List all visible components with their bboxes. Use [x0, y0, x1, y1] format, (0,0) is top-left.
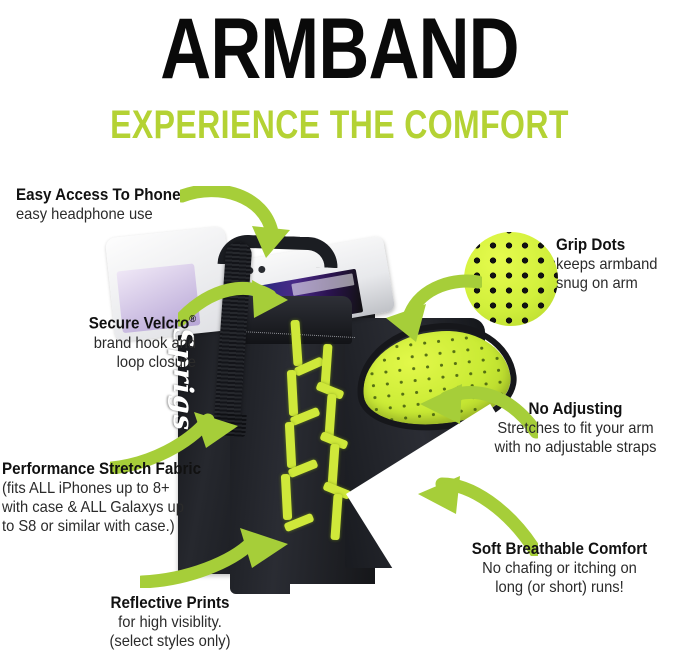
callout-body-line: No chafing or itching on — [450, 559, 670, 578]
callout-body-line: for high visiblity. — [69, 613, 271, 632]
callout-grip-dots: Grip Dots keeps armband snug on arm — [556, 236, 666, 293]
callout-body-line: loop closure — [16, 353, 196, 372]
callout-heading: Soft Breathable Comfort — [450, 540, 670, 559]
callout-body-line: to S8 or similar with case.) — [2, 517, 201, 536]
arrow-easy-access — [180, 186, 290, 264]
callout-heading-text: Secure Velcro — [89, 315, 189, 333]
callout-secure-velcro: Secure Velcro® brand hook and loop closu… — [0, 310, 196, 372]
arrow-grip-dots — [382, 274, 482, 344]
callout-heading: Performance Stretch Fabric — [2, 460, 201, 479]
callout-body-line: with case & ALL Galaxys up — [2, 498, 201, 517]
callout-heading: Secure Velcro® — [16, 310, 196, 334]
callout-heading: Grip Dots — [556, 236, 657, 255]
callout-body-line: brand hook and — [16, 334, 196, 353]
callout-soft-breathable-comfort: Soft Breathable Comfort No chafing or it… — [440, 540, 679, 597]
callout-no-adjusting: No Adjusting Stretches to fit your arm w… — [472, 400, 679, 457]
callout-body-line: keeps armband — [556, 255, 657, 274]
callout-body-line: with no adjustable straps — [480, 438, 670, 457]
infographic-canvas: ARMBAND EXPERIENCE THE COMFORT — [0, 0, 679, 664]
callout-body-line: easy headphone use — [16, 205, 181, 224]
callout-heading: Reflective Prints — [69, 594, 271, 613]
callout-body-line: snug on arm — [556, 274, 657, 293]
page-subtitle: EXPERIENCE THE COMFORT — [68, 105, 611, 145]
page-title: ARMBAND — [61, 6, 618, 92]
callout-heading: No Adjusting — [480, 400, 670, 419]
callout-body-line: long (or short) runs! — [450, 578, 670, 597]
callout-heading: Easy Access To Phone — [16, 186, 181, 205]
phone-status-bar — [291, 273, 354, 296]
callout-reflective-prints: Reflective Prints for high visiblity. (s… — [60, 594, 280, 651]
registered-mark: ® — [189, 314, 196, 325]
callout-body-line: (fits ALL iPhones up to 8+ — [2, 479, 201, 498]
callout-body-line: Stretches to fit your arm — [480, 419, 670, 438]
callout-easy-access: Easy Access To Phone easy headphone use — [16, 186, 195, 224]
callout-performance-stretch-fabric: Performance Stretch Fabric (fits ALL iPh… — [2, 460, 218, 536]
callout-body-line: (select styles only) — [69, 632, 271, 651]
